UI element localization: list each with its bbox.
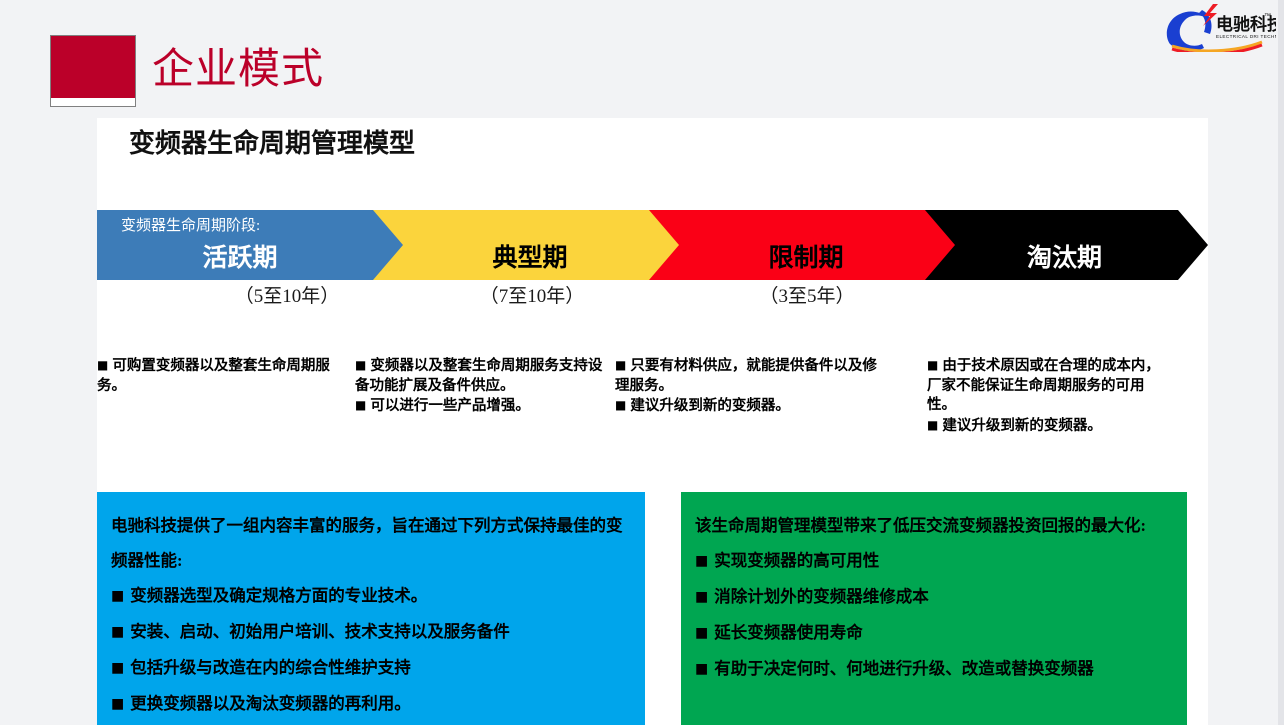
bullet-square-icon: ■ bbox=[927, 418, 938, 432]
chevron-stage-1-years: （5至10年） bbox=[157, 284, 417, 310]
services-box-bullet-text: 更换变频器以及淘汰变频器的再利用。 bbox=[130, 694, 411, 713]
stage-note-item: ■由于技术原因或在合理的成本内，厂家不能保证生命周期服务的可用性。 bbox=[927, 356, 1172, 416]
bullet-square-icon: ■ bbox=[927, 358, 938, 372]
bullet-square-icon: ■ bbox=[695, 661, 708, 677]
chevron-stage-1-name: 活跃期 bbox=[97, 242, 415, 274]
stage-note-text: 可购置变频器以及整套生命周期服务。 bbox=[97, 358, 330, 394]
services-box-blue: 电驰科技提供了一组内容丰富的服务，旨在通过下列方式保持最佳的变频器性能: ■变频… bbox=[97, 492, 645, 725]
right-edge-strip bbox=[1278, 0, 1284, 725]
benefits-box-bullet: ■实现变频器的高可用性 bbox=[695, 543, 1173, 579]
bullet-square-icon: ■ bbox=[111, 660, 124, 676]
stage-note-text: 变频器以及整套生命周期服务支持设备功能扩展及备件供应。 bbox=[355, 358, 602, 394]
stage-notes: ■可购置变频器以及整套生命周期服务。 ■变频器以及整套生命周期服务支持设备功能扩… bbox=[97, 356, 1208, 476]
chevron-stage-1[interactable]: 变频器生命周期阶段: 活跃期 bbox=[97, 210, 415, 280]
stage-note-text: 建议升级到新的变频器。 bbox=[630, 398, 790, 414]
bullet-square-icon: ■ bbox=[111, 588, 124, 604]
logo-trademark: ™ bbox=[1264, 13, 1271, 20]
stage-note-item: ■建议升级到新的变频器。 bbox=[927, 416, 1172, 437]
content-panel: 变频器生命周期管理模型 变频器生命周期阶段: 活跃期 典型期 bbox=[97, 118, 1208, 725]
stage-note-item: ■变频器以及整套生命周期服务支持设备功能扩展及备件供应。 bbox=[355, 356, 605, 396]
services-box-bullet-text: 包括升级与改造在内的综合性维护支持 bbox=[130, 658, 411, 677]
chevron-stage-2-name: 典型期 bbox=[373, 242, 691, 274]
company-logo: 电驰科技 ™ ELECTRICAL DRI TECHNOLOGY bbox=[1158, 2, 1276, 52]
bullet-square-icon: ■ bbox=[111, 696, 124, 712]
chevron-stage-3-name: 限制期 bbox=[649, 242, 967, 274]
benefits-box-bullet: ■有助于决定何时、何地进行升级、改造或替换变频器 bbox=[695, 651, 1173, 687]
stage-note-item: ■只要有材料供应，就能提供备件以及修理服务。 bbox=[615, 356, 889, 396]
stage-notes-column-1: ■可购置变频器以及整套生命周期服务。 bbox=[97, 356, 347, 396]
stage-note-text: 由于技术原因或在合理的成本内，厂家不能保证生命周期服务的可用性。 bbox=[927, 358, 1160, 413]
page-title: 企业模式 bbox=[152, 40, 324, 98]
chevron-stage-2[interactable]: 典型期 bbox=[373, 210, 691, 280]
services-box-bullet: ■包括升级与改造在内的综合性维护支持 bbox=[111, 650, 631, 686]
bullet-square-icon: ■ bbox=[695, 553, 708, 569]
lifecycle-chevron-band: 变频器生命周期阶段: 活跃期 典型期 限制期 bbox=[97, 210, 1208, 280]
chevron-stage-4[interactable]: 淘汰期 bbox=[925, 210, 1208, 280]
slide-header: 企业模式 电驰科技 ™ ELECTRICAL DRI TECHNOLOGY bbox=[0, 0, 1284, 118]
bullet-square-icon: ■ bbox=[695, 625, 708, 641]
stage-note-item: ■可以进行一些产品增强。 bbox=[355, 396, 605, 417]
services-box-lead: 电驰科技提供了一组内容丰富的服务，旨在通过下列方式保持最佳的变频器性能: bbox=[111, 508, 631, 578]
benefits-box-bullet-text: 消除计划外的变频器维修成本 bbox=[714, 587, 929, 606]
bullet-square-icon: ■ bbox=[355, 358, 366, 372]
bullet-square-icon: ■ bbox=[97, 358, 108, 372]
chevron-stage-4-name: 淘汰期 bbox=[925, 242, 1208, 274]
services-box-bullet: ■安装、启动、初始用户培训、技术支持以及服务备件 bbox=[111, 614, 631, 650]
stage-note-item: ■可购置变频器以及整套生命周期服务。 bbox=[97, 356, 347, 396]
stage-note-text: 只要有材料供应，就能提供备件以及修理服务。 bbox=[615, 358, 877, 394]
stage-notes-column-2: ■变频器以及整套生命周期服务支持设备功能扩展及备件供应。 ■可以进行一些产品增强… bbox=[355, 356, 605, 417]
benefits-box-bullet: ■延长变频器使用寿命 bbox=[695, 615, 1173, 651]
benefits-box-bullet-text: 有助于决定何时、何地进行升级、改造或替换变频器 bbox=[714, 659, 1094, 678]
stage-note-item: ■建议升级到新的变频器。 bbox=[615, 396, 889, 417]
bullet-square-icon: ■ bbox=[695, 589, 708, 605]
title-swatch-fill bbox=[51, 36, 135, 98]
stage-note-text: 可以进行一些产品增强。 bbox=[370, 398, 530, 414]
svg-text:™: ™ bbox=[1264, 13, 1271, 20]
stage-notes-column-3: ■只要有材料供应，就能提供备件以及修理服务。 ■建议升级到新的变频器。 bbox=[615, 356, 889, 417]
stage-notes-column-4: ■由于技术原因或在合理的成本内，厂家不能保证生命周期服务的可用性。 ■建议升级到… bbox=[927, 356, 1172, 436]
title-decoration-swatch bbox=[50, 35, 136, 107]
benefits-box-green: 该生命周期管理模型带来了低压交流变频器投资回报的最大化: ■实现变频器的高可用性… bbox=[681, 492, 1187, 725]
chevron-stage-caption: 变频器生命周期阶段: bbox=[121, 216, 260, 236]
services-box-bullet: ■变频器选型及确定规格方面的专业技术。 bbox=[111, 578, 631, 614]
benefits-box-bullet-text: 实现变频器的高可用性 bbox=[714, 551, 879, 570]
benefits-box-bullet: ■消除计划外的变频器维修成本 bbox=[695, 579, 1173, 615]
services-box-bullet-text: 安装、启动、初始用户培训、技术支持以及服务备件 bbox=[130, 622, 510, 641]
services-box-bullet: ■更换变频器以及淘汰变频器的再利用。 bbox=[111, 686, 631, 722]
bullet-square-icon: ■ bbox=[355, 398, 366, 412]
logo-english-text: ELECTRICAL DRI TECHNOLOGY bbox=[1216, 34, 1276, 39]
benefits-box-bullet-text: 延长变频器使用寿命 bbox=[714, 623, 863, 642]
services-box-bullet-text: 变频器选型及确定规格方面的专业技术。 bbox=[130, 586, 427, 605]
benefits-box-lead: 该生命周期管理模型带来了低压交流变频器投资回报的最大化: bbox=[695, 508, 1173, 543]
chevron-stage-2-years: （7至10年） bbox=[402, 284, 662, 310]
svg-text:ELECTRICAL DRI TECHNOLOGY: ELECTRICAL DRI TECHNOLOGY bbox=[1216, 34, 1276, 39]
bullet-square-icon: ■ bbox=[111, 624, 124, 640]
bullet-square-icon: ■ bbox=[615, 358, 626, 372]
stage-note-text: 建议升级到新的变频器。 bbox=[942, 418, 1102, 434]
chevron-stage-3[interactable]: 限制期 bbox=[649, 210, 967, 280]
bullet-square-icon: ■ bbox=[615, 398, 626, 412]
model-title: 变频器生命周期管理模型 bbox=[129, 126, 415, 162]
slide-root: 企业模式 电驰科技 ™ ELECTRICAL DRI TECHNOLOGY bbox=[0, 0, 1284, 725]
chevron-stage-3-years: （3至5年） bbox=[677, 284, 937, 310]
